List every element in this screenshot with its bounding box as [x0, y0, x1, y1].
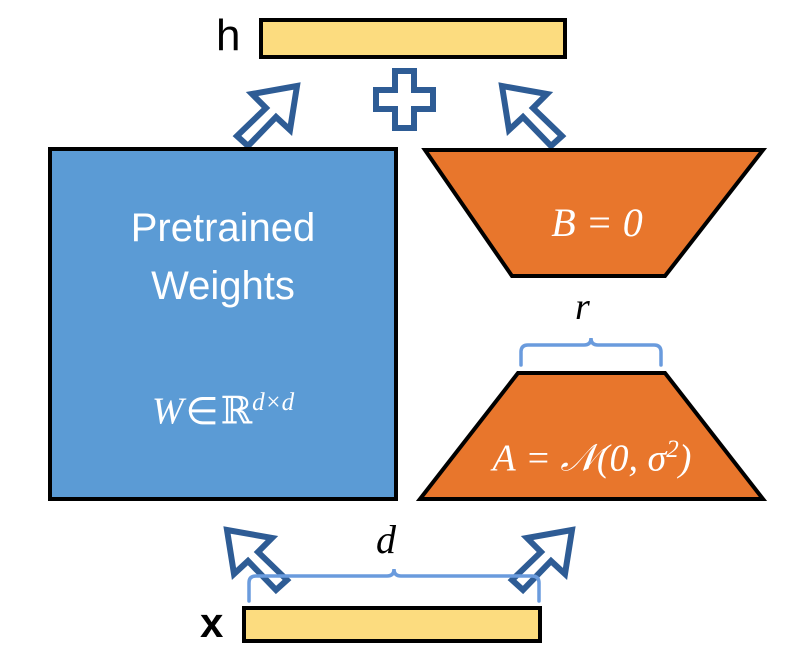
arrow-input-to-pretrained — [227, 530, 287, 590]
adapter-b-equals: = — [586, 200, 613, 245]
adapter-b-value: 0 — [623, 200, 643, 245]
input-vector-label: x — [200, 602, 223, 644]
adapter-a-equals: = — [525, 438, 551, 480]
arrow-pretrained-to-output — [237, 86, 297, 146]
output-vector-label: h — [216, 14, 240, 58]
adapter-b-label: B = 0 — [430, 203, 764, 243]
plus-operator — [376, 71, 433, 128]
formula-real-set-symbol: ℝ — [221, 389, 253, 433]
pretrained-weights-box — [50, 149, 396, 499]
adapter-a-close-paren: ) — [679, 438, 692, 480]
adapter-a-exponent: 2 — [666, 436, 679, 463]
output-vector-bar — [261, 20, 565, 57]
arrow-adapter-b-to-output — [502, 86, 562, 146]
adapter-a-variable: A — [493, 438, 516, 480]
pretrained-weights-label-line1: Pretrained — [50, 208, 396, 248]
adapter-a-label: A = 𝒩(0, σ2) — [420, 437, 764, 478]
input-vector-bar — [244, 608, 540, 641]
diagram-canvas — [0, 0, 798, 660]
model-dim-brace — [249, 569, 539, 601]
pretrained-weights-formula: W∈ℝd×d — [50, 390, 396, 431]
rank-brace — [521, 338, 661, 365]
pretrained-weights-label-line2: Weights — [50, 266, 396, 306]
model-dimension-label: d — [376, 520, 396, 560]
formula-element-of-icon: ∈ — [183, 391, 220, 433]
adapter-b-variable: B — [551, 200, 575, 245]
formula-exponent: d×d — [252, 389, 294, 416]
arrow-input-to-adapter-a — [512, 530, 572, 590]
adapter-a-args: (0, σ — [597, 438, 666, 480]
adapter-a-distribution-symbol: 𝒩 — [560, 436, 596, 480]
formula-w-symbol: W — [152, 391, 184, 433]
rank-dimension-label: r — [575, 288, 590, 326]
